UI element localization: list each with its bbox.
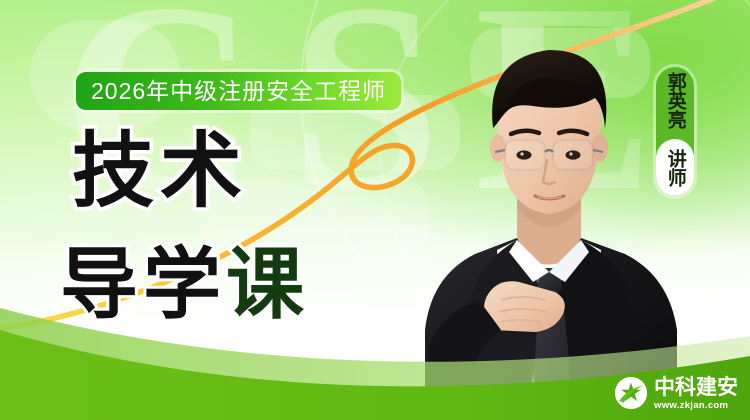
course-badge: 2026年中级注册安全工程师 xyxy=(76,72,401,110)
course-banner: CSE xyxy=(0,0,750,420)
star-swoosh-circle-icon xyxy=(615,377,647,409)
brand-name: 中科建安 xyxy=(654,377,738,398)
headline-secondary-black: 导学 xyxy=(60,240,226,328)
headline-primary: 技术 xyxy=(72,131,248,213)
instructor-pill: 郭英亮 讲师 xyxy=(656,67,694,196)
brand-text-block: 中科建安 www.zkjan.com xyxy=(654,377,738,411)
course-badge-label: 2026年中级注册安全工程师 xyxy=(91,80,386,103)
instructor-role: 讲师 xyxy=(664,149,685,187)
instructor-role-badge: 讲师 xyxy=(656,139,694,196)
instructor-name: 郭英亮 xyxy=(664,72,685,138)
headline-secondary: 导学课 xyxy=(60,245,309,323)
brand-logo: 中科建安 www.zkjan.com xyxy=(615,377,738,411)
headline-secondary-accent: 课 xyxy=(226,240,309,328)
brand-url: www.zkjan.com xyxy=(654,401,738,411)
